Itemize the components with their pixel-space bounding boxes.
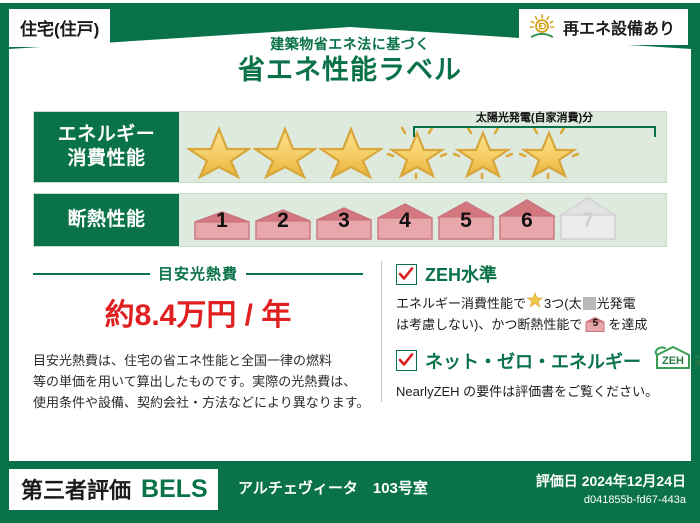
grade-house-1: 1 — [193, 210, 251, 240]
redacted-glyph-box — [583, 297, 596, 310]
grade-house-2: 2 — [254, 208, 312, 240]
grade-number: 6 — [498, 209, 556, 233]
insulation-performance-row: 断熱性能 1 — [33, 193, 667, 247]
net-zero-heading: ネット・ゼロ・エネルギー ZEH Nearly ZEH — [396, 345, 667, 376]
footer-bar: 第三者評価 BELS アルチェヴィータ 103号室 評価日 2024年12月24… — [0, 461, 700, 523]
evaluation-date-block: 評価日 2024年12月24日 d041855b-fd67-443a — [536, 471, 686, 506]
grade-house-7: 7 — [559, 196, 617, 240]
grade-number: 2 — [254, 209, 312, 233]
energy-label-line2: 消費性能 — [67, 147, 145, 171]
grade-house-3: 3 — [315, 206, 373, 240]
svg-text:ZEH: ZEH — [662, 355, 684, 367]
mini-grade-number: 5 — [585, 316, 605, 332]
building-unit-name: アルチェヴィータ 103号室 — [238, 477, 428, 498]
bels-logo-text: BELS — [141, 475, 208, 504]
net-zero-title: ネット・ゼロ・エネルギー — [425, 348, 641, 374]
cost-note-line: 使用条件や設備、契約会社・方法などにより異なります。 — [33, 392, 363, 413]
grade-house-6: 6 — [498, 198, 556, 240]
zeh-logo: ZEH Nearly ZEH — [653, 345, 700, 376]
zeh-house-logo-icon: ZEH — [653, 345, 693, 376]
star-solar — [517, 121, 581, 179]
renewable-equipment-badge: 再エネ設備あり — [519, 9, 688, 45]
mini-grade-house-icon: 5 — [585, 317, 605, 332]
grade-number: 5 — [437, 209, 495, 233]
energy-performance-label: 住宅(住戸) 再エネ設備あり 建築物省エネ法に基づく — [0, 0, 700, 523]
zeh-logo-subtext: Nearly ZEH — [695, 355, 700, 367]
bels-plate: 第三者評価 BELS — [9, 469, 218, 510]
grade-house-5: 5 — [437, 200, 495, 240]
energy-label-line1: エネルギー — [58, 123, 156, 147]
zeh-standard-heading: ZEH水準 — [396, 261, 667, 287]
insulation-grade-body: 1 2 3 — [179, 194, 666, 246]
heading-rule-left — [33, 273, 150, 275]
cost-note-line: 等の単価を用いて算出したものです。実際の光熱費は、 — [33, 371, 363, 392]
document-id: d041855b-fd67-443a — [536, 494, 686, 506]
checkbox-checked-icon — [396, 350, 417, 371]
grade-number: 1 — [193, 209, 251, 233]
utility-cost-block: 目安光熱費 約8.4万円 / 年 目安光熱費は、住宅の省エネ性能と全国一律の燃料… — [33, 263, 363, 413]
grade-number: 7 — [559, 209, 617, 233]
zeh-desc-stars: 3つ — [544, 293, 564, 314]
star-filled — [319, 121, 383, 179]
checkbox-checked-icon — [396, 264, 417, 285]
net-zero-desc-line: NearlyZEH の要件は評価書をご覧ください。 — [396, 381, 667, 402]
energy-rating-body: 太陽光発電(自家消費)分 — [179, 112, 666, 182]
star-filled — [253, 121, 317, 179]
evaluation-date: 評価日 2024年12月24日 — [536, 471, 686, 491]
utility-cost-heading-text: 目安光熱費 — [158, 263, 238, 284]
renewable-badge-label: 再エネ設備あり — [563, 15, 675, 39]
zeh-desc-line2-post: を達成 — [608, 314, 647, 335]
grade-number: 4 — [376, 209, 434, 233]
star-rating — [179, 121, 581, 179]
energy-consumption-row: エネルギー 消費性能 — [33, 111, 667, 183]
energy-consumption-label: エネルギー 消費性能 — [34, 112, 179, 182]
grade-house-4: 4 — [376, 202, 434, 240]
insulation-label: 断熱性能 — [34, 194, 179, 246]
zeh-standard-title: ZEH水準 — [425, 261, 497, 287]
utility-cost-heading: 目安光熱費 — [33, 263, 363, 284]
solar-sun-icon — [528, 14, 556, 40]
net-zero-description: NearlyZEH の要件は評価書をご覧ください。 — [396, 381, 667, 402]
zeh-block: ZEH水準 エネルギー消費性能で 3つ (太 光発電 は考慮しない) — [381, 261, 667, 402]
heading-rule-right — [246, 273, 363, 275]
star-solar — [451, 121, 515, 179]
bels-japanese-label: 第三者評価 — [21, 473, 131, 505]
star-filled — [187, 121, 251, 179]
zeh-desc-mid-close: 光発電 — [597, 293, 636, 314]
zeh-desc-pre: エネルギー消費性能で — [396, 293, 526, 314]
utility-cost-note: 目安光熱費は、住宅の省エネ性能と全国一律の燃料 等の単価を用いて算出したものです… — [33, 350, 363, 413]
insulation-grade-scale: 1 2 3 — [179, 194, 617, 246]
insulation-label-text: 断熱性能 — [67, 208, 145, 232]
mini-star-icon — [527, 292, 543, 314]
star-solar — [385, 121, 449, 179]
zeh-desc-line-2: は考慮しない)、かつ断熱性能で 5 を達成 — [396, 314, 667, 335]
housing-type-tag: 住宅(住戸) — [9, 9, 110, 47]
cost-note-line: 目安光熱費は、住宅の省エネ性能と全国一律の燃料 — [33, 350, 363, 371]
zeh-logo-sub2: ZEH — [695, 361, 700, 367]
zeh-desc-line-1: エネルギー消費性能で 3つ (太 光発電 — [396, 292, 667, 314]
zeh-desc-mid-open: (太 — [564, 293, 581, 314]
utility-cost-value: 約8.4万円 / 年 — [33, 290, 363, 334]
grade-number: 3 — [315, 209, 373, 233]
zeh-standard-description: エネルギー消費性能で 3つ (太 光発電 は考慮しない)、かつ断熱性能で — [396, 292, 667, 335]
zeh-desc-line2-pre: は考慮しない)、かつ断熱性能で — [396, 314, 582, 335]
